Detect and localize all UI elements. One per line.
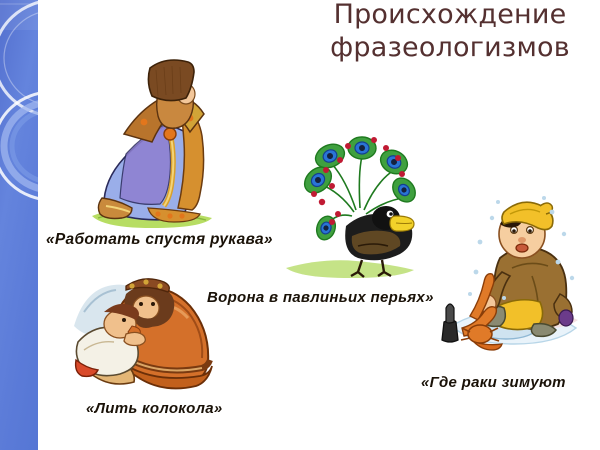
caption-rabotat-spustya-rukava: «Работать спустя рукава» [46,231,273,249]
whisper-hand [124,332,145,345]
crayfish-body [468,325,492,343]
illustration-crayfish [440,176,590,358]
caption-gde-raki-zimuyut: «Где раки зимуют [421,374,566,391]
robe-brooch [164,128,176,140]
illustration-crow-peacock [282,110,418,286]
grass-patch [286,260,414,278]
illustration-boyar [88,58,216,236]
mitten [559,310,573,326]
fur-hat [148,60,194,101]
slide-title: Происхождение фразеологизмов [300,0,600,64]
slide-canvas: Происхождение фразеологизмов [0,0,600,450]
caption-vorona-v-pavlinih-peryah: Ворона в павлиньих перьях» [207,289,434,306]
open-mouth [516,244,528,252]
illustration-bell-casting [68,272,218,390]
decorative-blue-band [0,0,38,450]
caption-lit-kolokola: «Лить колокола» [86,400,223,417]
band-rings-icon [0,0,38,254]
